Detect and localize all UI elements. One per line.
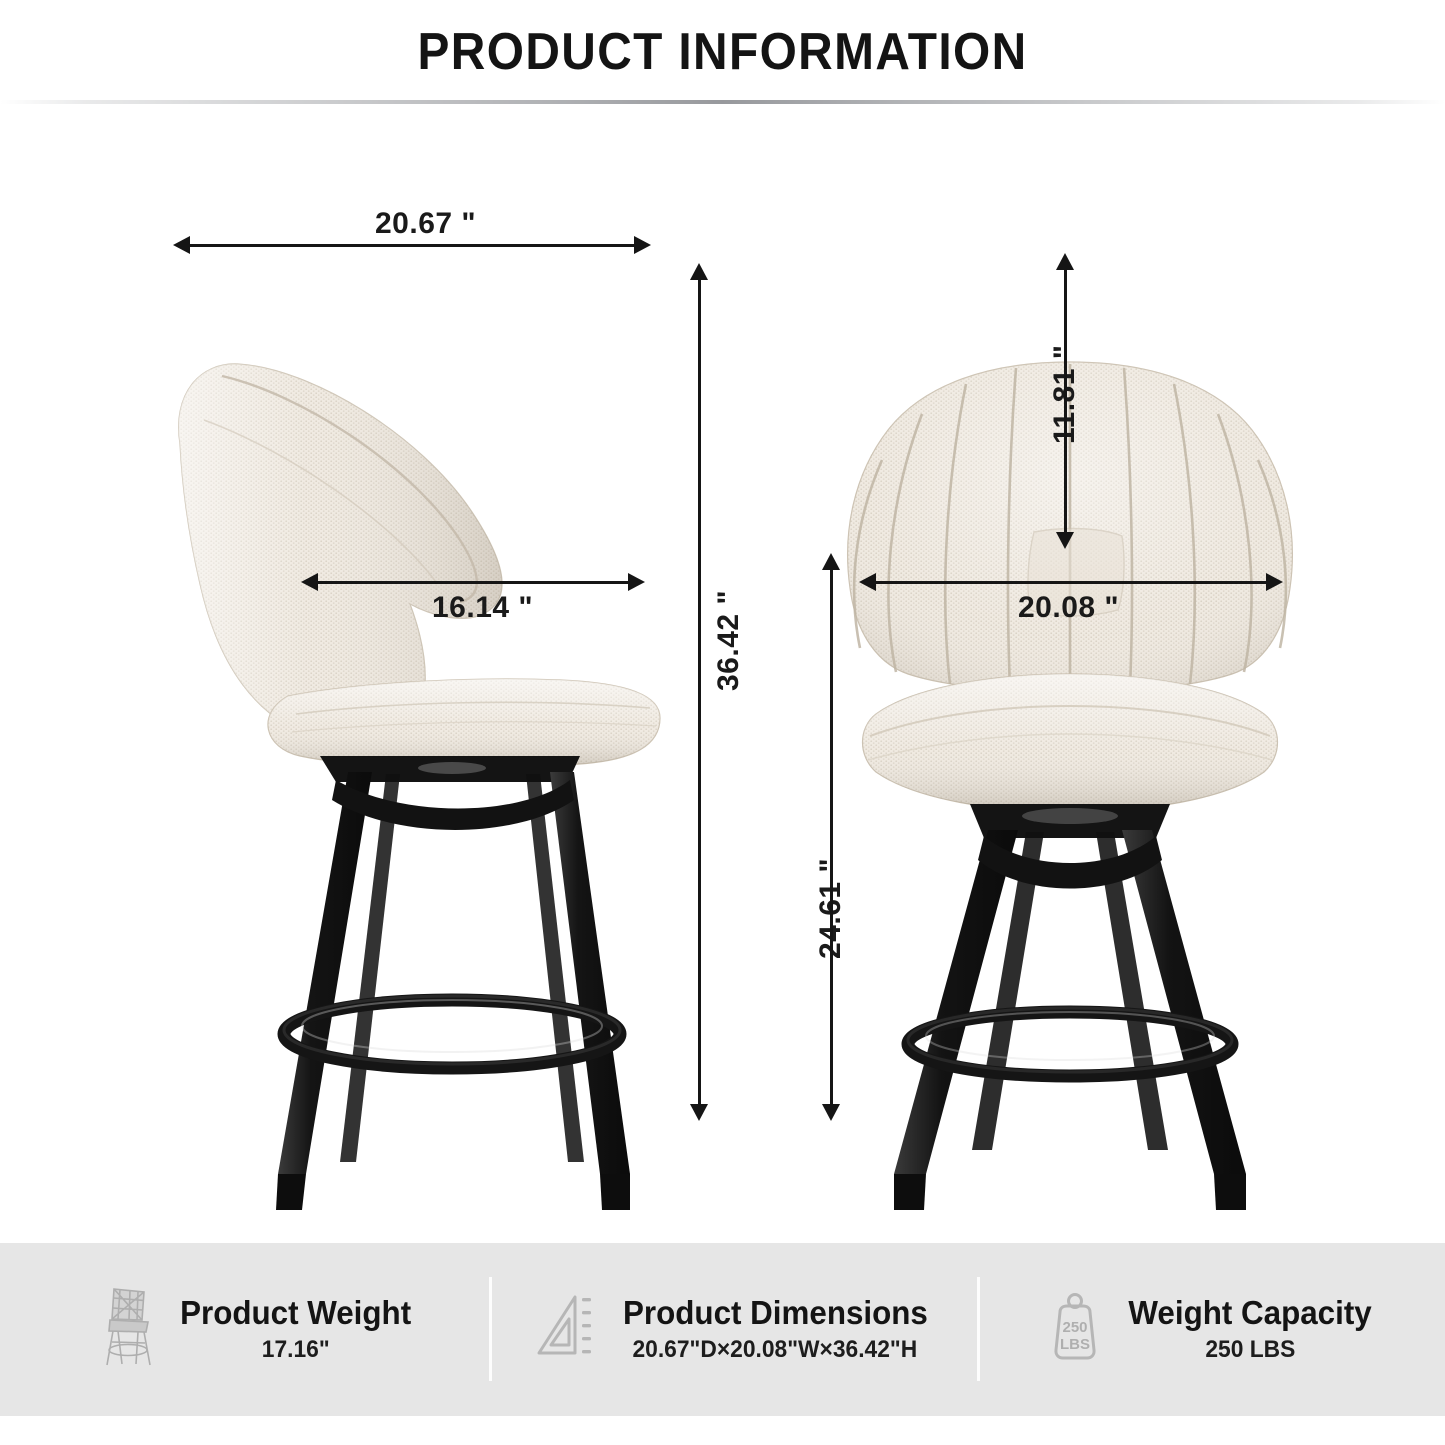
spec-item-product-dimensions: Product Dimensions 20.67"D×20.08"W×36.42… [490,1243,978,1416]
spec-value-weight-capacity: 250 LBS [1205,1336,1295,1364]
weight-icon-text-top: 250 [1063,1319,1088,1336]
chair-side-view [160,244,680,1244]
product-spec-bar: Product Weight 17.16" [0,1243,1445,1416]
dim-arrow-backrest-height-top [1056,253,1074,270]
dim-line-seat-height [830,569,833,1109]
spec-title-product-weight: Product Weight [180,1295,411,1332]
spec-item-weight-capacity: 250 LBS Weight Capacity 250 LBS [978,1243,1445,1416]
dim-arrow-seat-width-start [859,573,876,591]
dim-arrow-seat-width-end [1266,573,1283,591]
page-header: PRODUCT INFORMATION [0,0,1445,104]
dim-label-seat-depth: 16.14 " [432,591,533,625]
spec-title-product-dimensions: Product Dimensions [623,1295,928,1332]
dim-arrow-overall-depth-end [634,236,651,254]
dim-arrow-overall-height-bottom [690,1104,708,1121]
spec-text-weight-capacity: Weight Capacity 250 LBS [1122,1295,1378,1365]
spec-text-product-weight: Product Weight 17.16" [174,1295,417,1365]
dim-line-seat-width [874,581,1266,584]
product-diagram: 20.67 " 16.14 " 36.42 " 24.61 " 11.81 " … [0,104,1445,1243]
dim-label-overall-depth: 20.67 " [375,207,476,241]
dim-arrow-overall-height-top [690,263,708,280]
dim-line-overall-height [698,279,701,1109]
dim-arrow-seat-depth-start [301,573,318,591]
dim-line-seat-depth [316,581,628,584]
spec-value-product-dimensions: 20.67"D×20.08"W×36.42"H [633,1336,918,1364]
dim-arrow-seat-height-bottom [822,1104,840,1121]
dim-arrow-backrest-height-bottom [1056,532,1074,549]
dim-arrow-seat-height-top [822,553,840,570]
triangle-ruler-icon [533,1291,599,1368]
dim-arrow-seat-depth-end [628,573,645,591]
dim-label-overall-height: 36.42 " [712,590,746,691]
dim-label-seat-width: 20.08 " [1018,591,1119,625]
spec-title-weight-capacity: Weight Capacity [1129,1295,1372,1332]
dim-line-backrest-height [1064,269,1067,537]
spec-value-product-weight: 17.16" [262,1336,330,1364]
weight-250lbs-icon: 250 LBS [1044,1290,1106,1369]
product-information-page: PRODUCT INFORMATION [0,0,1445,1445]
spec-item-product-weight: Product Weight 17.16" [0,1243,490,1416]
dim-arrow-overall-depth-start [173,236,190,254]
bar-stool-icon [100,1286,158,1373]
spec-text-product-dimensions: Product Dimensions 20.67"D×20.08"W×36.42… [615,1295,936,1365]
page-title: PRODUCT INFORMATION [417,22,1027,82]
weight-icon-text-bottom: LBS [1060,1336,1090,1353]
dim-line-overall-depth [188,244,634,247]
